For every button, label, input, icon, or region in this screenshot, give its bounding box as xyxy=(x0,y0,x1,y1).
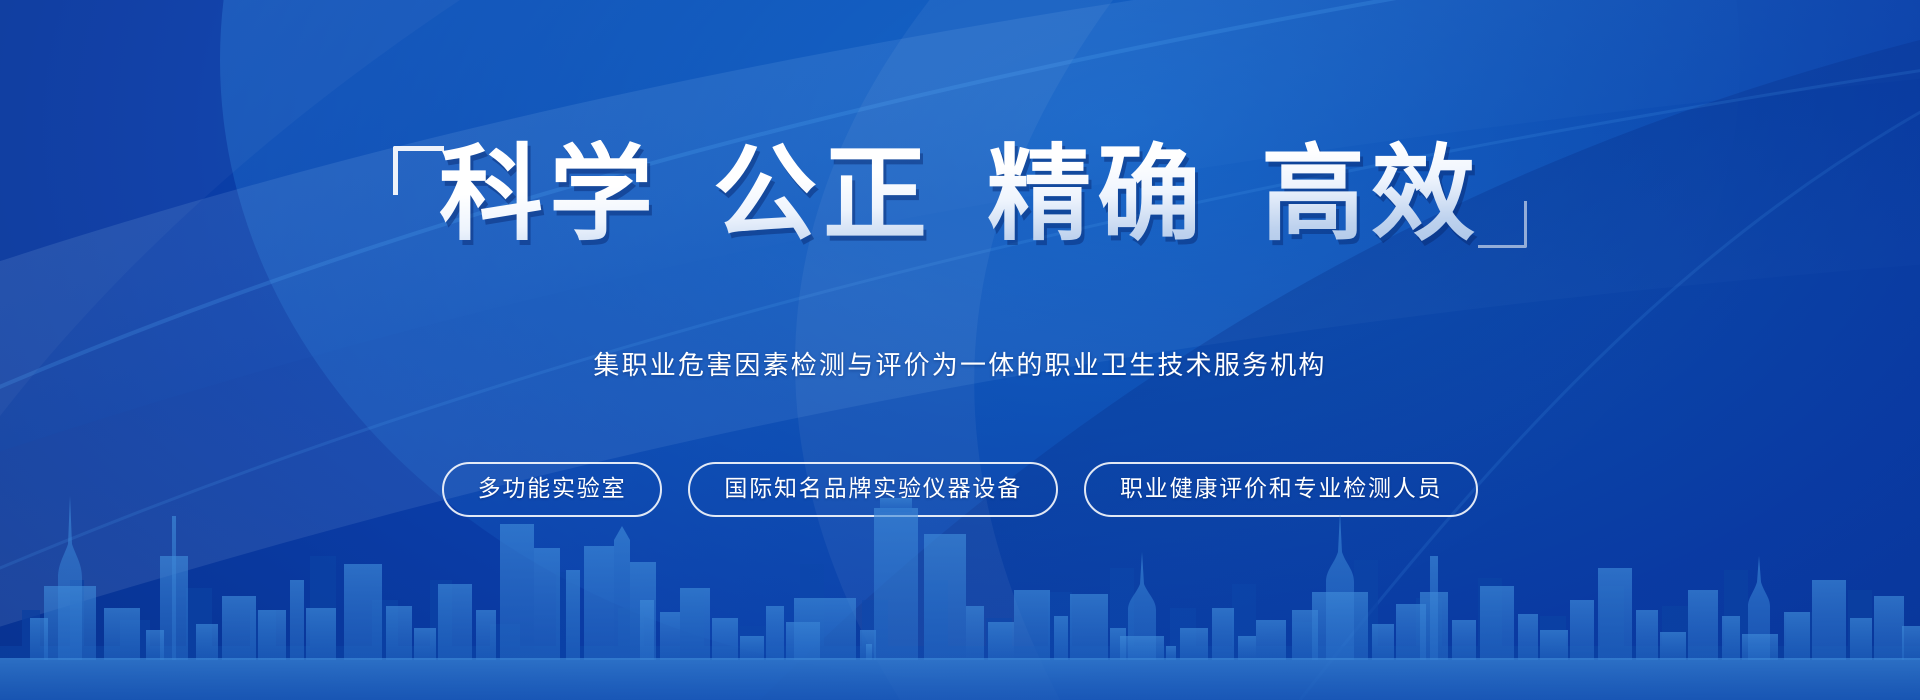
hero-banner: 科学 公正 精确 高效 集职业危害因素检测与评价为一体的职业卫生技术服务机构 多… xyxy=(0,0,1920,700)
bracket-open-icon xyxy=(393,146,444,195)
headline-word-3: 精确 xyxy=(987,140,1207,250)
feature-pill-equipment[interactable]: 国际知名品牌实验仪器设备 xyxy=(688,462,1058,517)
headline-word-1: 科学 xyxy=(439,140,659,250)
headline-wrap: 科学 公正 精确 高效 xyxy=(393,140,1527,250)
feature-pill-staff[interactable]: 职业健康评价和专业检测人员 xyxy=(1084,462,1478,517)
headline-word-2: 公正 xyxy=(713,140,933,250)
bracket-close-icon xyxy=(1478,201,1527,248)
feature-pill-lab[interactable]: 多功能实验室 xyxy=(442,462,663,517)
headline-block: 科学 公正 精确 高效 xyxy=(0,140,1920,250)
feature-pill-row: 多功能实验室 国际知名品牌实验仪器设备 职业健康评价和专业检测人员 xyxy=(0,462,1920,517)
page-title: 科学 公正 精确 高效 xyxy=(439,140,1481,250)
subtitle: 集职业危害因素检测与评价为一体的职业卫生技术服务机构 xyxy=(0,345,1920,382)
headline-word-4: 高效 xyxy=(1261,140,1481,250)
